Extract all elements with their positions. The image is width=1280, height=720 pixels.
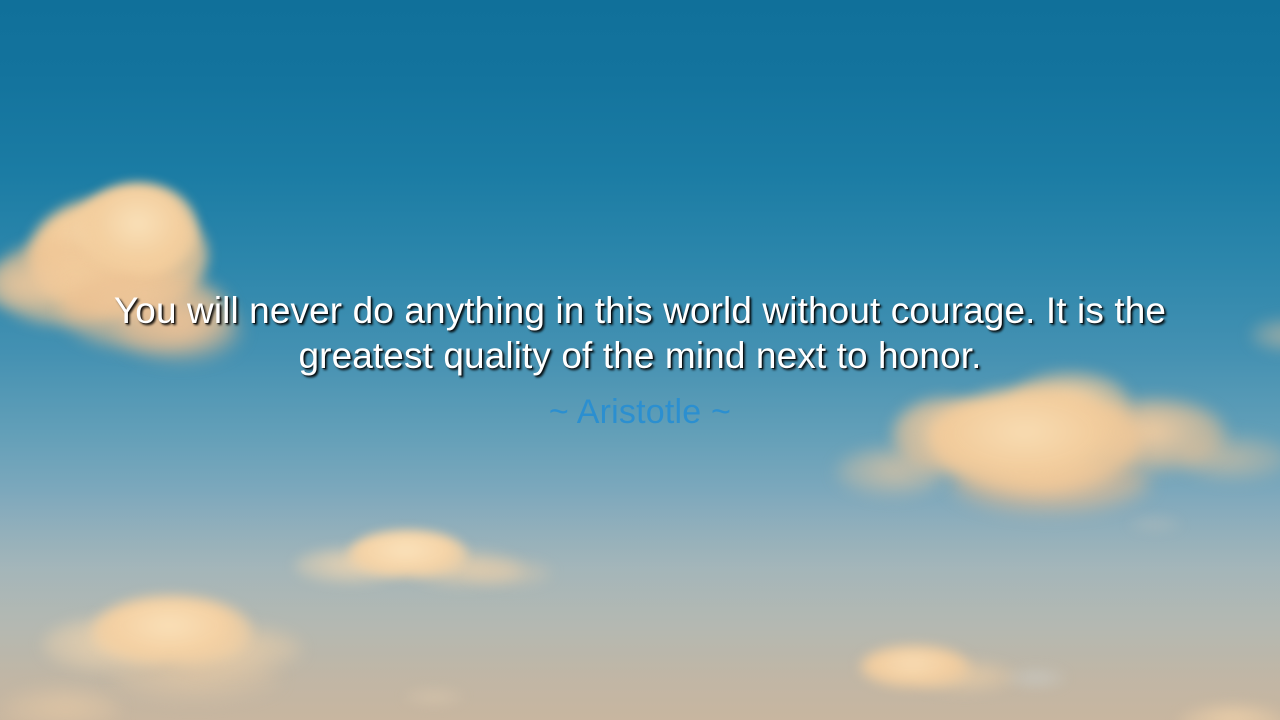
quote-text: You will never do anything in this world…	[110, 288, 1170, 378]
quote-overlay: You will never do anything in this world…	[0, 288, 1280, 432]
quote-wallpaper: You will never do anything in this world…	[0, 0, 1280, 720]
quote-author: ~ Aristotle ~	[549, 392, 731, 432]
